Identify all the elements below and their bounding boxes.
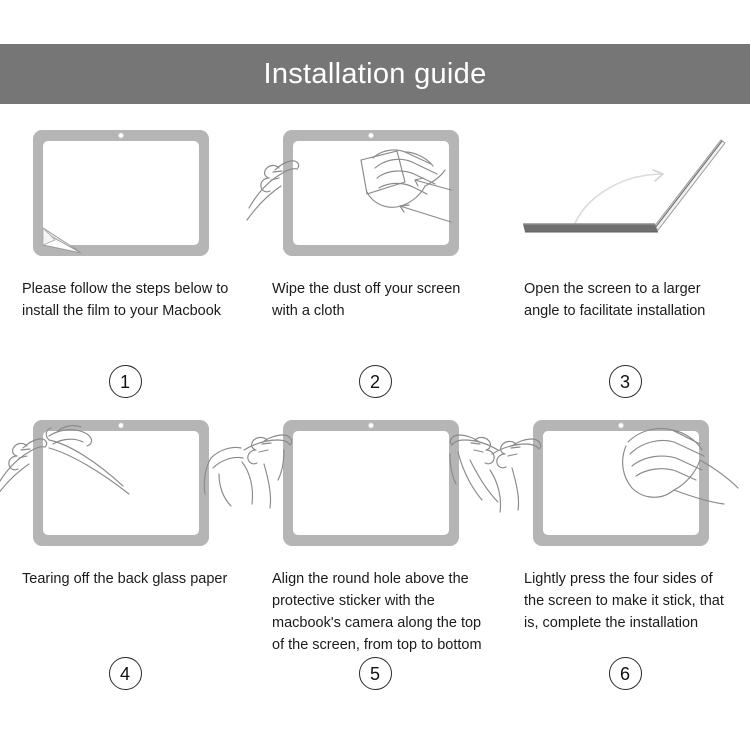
- hands-pressing-screen-edges-icon: [500, 414, 750, 549]
- step-panel-3: Open the screen to a larger angle to fac…: [500, 124, 750, 414]
- step-2-number: 2: [250, 365, 500, 398]
- step-1-illustration: [14, 124, 236, 264]
- step-panel-1: Please follow the steps below to install…: [0, 124, 250, 414]
- step-4-caption: Tearing off the back glass paper: [14, 568, 236, 590]
- step-panel-6: Lightly press the four sides of the scre…: [500, 414, 750, 714]
- step-2-illustration: [264, 124, 486, 264]
- page-title: Installation guide: [263, 60, 486, 89]
- step-3-illustration: [514, 124, 736, 264]
- header-banner: Installation guide: [0, 44, 750, 104]
- step-number-circle: 1: [109, 365, 142, 398]
- step-1-number: 1: [0, 365, 250, 398]
- two-hands-aligning-film-over-screen-icon: [250, 414, 500, 549]
- steps-grid: Please follow the steps below to install…: [0, 124, 750, 714]
- step-3-number: 3: [500, 365, 750, 398]
- step-6-caption: Lightly press the four sides of the scre…: [514, 568, 736, 634]
- tablet-with-peeling-film-corner-icon: [25, 124, 225, 259]
- step-5-illustration: [264, 414, 486, 554]
- step-number-circle: 3: [609, 365, 642, 398]
- step-number-circle: 5: [359, 657, 392, 690]
- step-2-caption: Wipe the dust off your screen with a clo…: [264, 278, 486, 322]
- hands-wiping-screen-with-cloth-icon: [255, 124, 495, 259]
- step-panel-5: Align the round hole above the protectiv…: [250, 414, 500, 714]
- hands-tearing-backing-paper-icon: [5, 414, 245, 549]
- laptop-opening-side-view-with-arc-arrow-icon: [515, 124, 735, 259]
- step-panel-4: Tearing off the back glass paper 4: [0, 414, 250, 714]
- step-panel-2: Wipe the dust off your screen with a clo…: [250, 124, 500, 414]
- step-5-caption: Align the round hole above the protectiv…: [264, 568, 486, 656]
- installation-guide-page: Installation guide Please follow the ste…: [0, 0, 750, 750]
- step-3-caption: Open the screen to a larger angle to fac…: [514, 278, 736, 322]
- step-5-number: 5: [250, 657, 500, 690]
- step-number-circle: 4: [109, 657, 142, 690]
- step-1-caption: Please follow the steps below to install…: [14, 278, 236, 322]
- step-number-circle: 6: [609, 657, 642, 690]
- step-number-circle: 2: [359, 365, 392, 398]
- step-6-number: 6: [500, 657, 750, 690]
- step-4-number: 4: [0, 657, 250, 690]
- step-6-illustration: [514, 414, 736, 554]
- step-4-illustration: [14, 414, 236, 554]
